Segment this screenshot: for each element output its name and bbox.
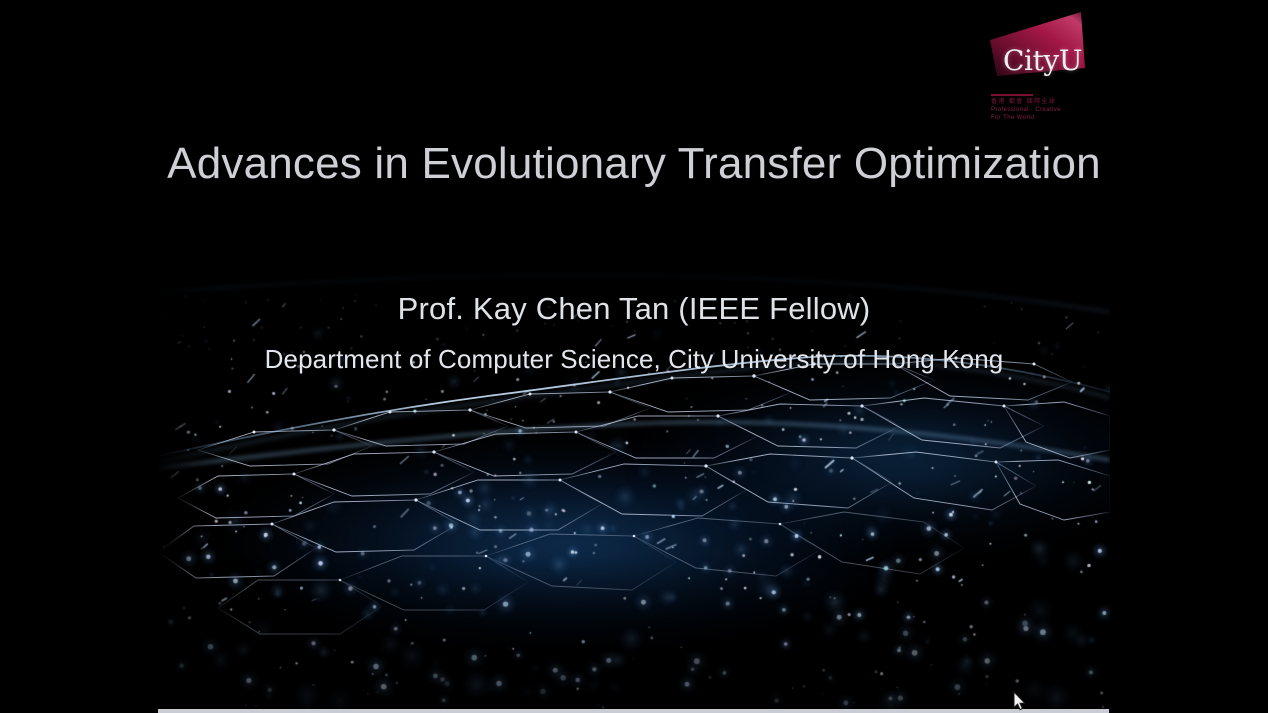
cityu-logo-tagline-line2: For The World: [991, 115, 1034, 122]
cityu-wordmark: CityU: [1003, 44, 1082, 77]
cityu-logo-rule: [991, 94, 1033, 96]
speaker-affiliation: Department of Computer Science, City Uni…: [0, 344, 1268, 375]
presentation-slide[interactable]: CityU 香港 都會 國際全球 Professional · Creative…: [0, 0, 1268, 709]
cityu-logo-tagline-line1: Professional · Creative: [991, 107, 1061, 114]
presentation-progress-strip[interactable]: [158, 709, 1109, 713]
slide-title: Advances in Evolutionary Transfer Optimi…: [0, 139, 1268, 189]
speaker-name: Prof. Kay Chen Tan (IEEE Fellow): [0, 291, 1268, 327]
cityu-logo-chinese-tagline: 香港 都會 國際全球: [991, 99, 1056, 106]
screen-stage: CityU 香港 都會 國際全球 Professional · Creative…: [0, 0, 1268, 713]
background-bottom-fade: [158, 559, 1110, 709]
cityu-logo: CityU 香港 都會 國際全球 Professional · Creative…: [985, 10, 1105, 120]
